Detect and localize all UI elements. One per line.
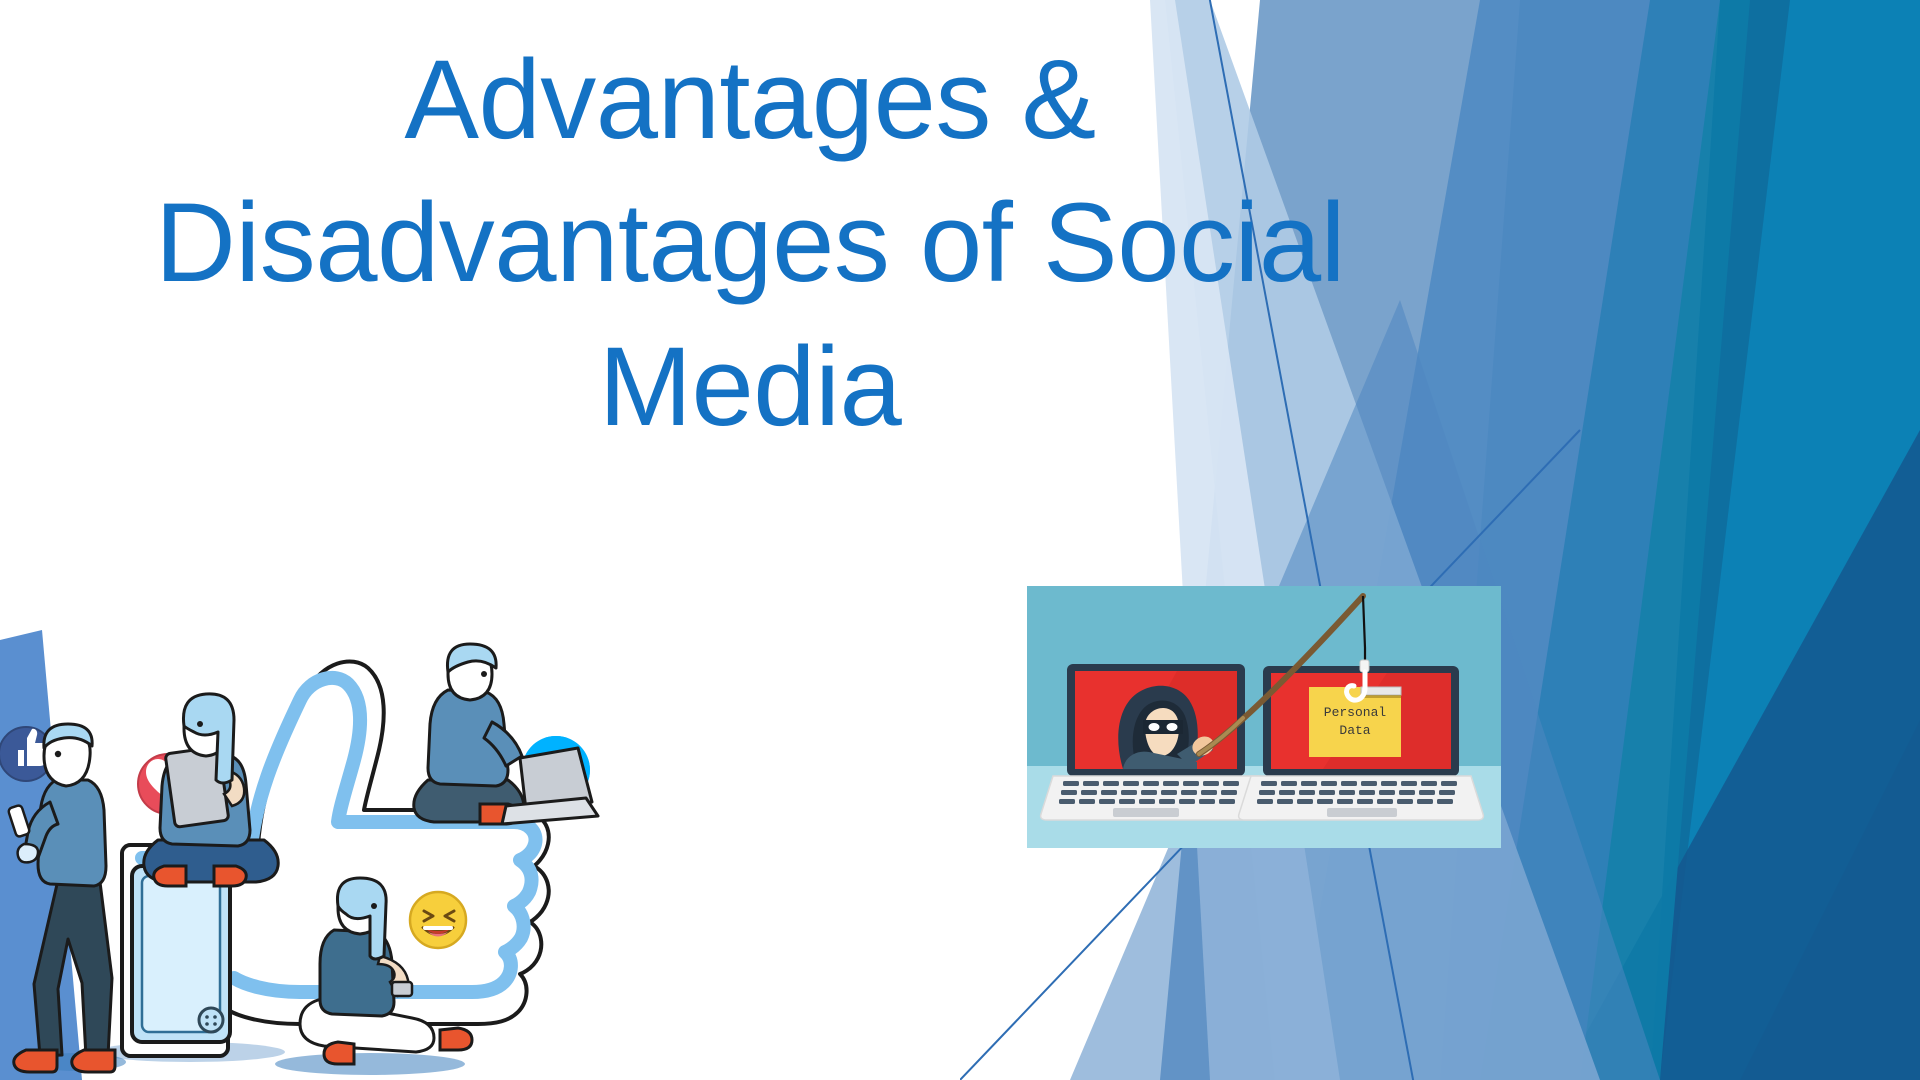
man-standing-shoe-left — [14, 1050, 57, 1072]
seated-woman-shoe-right — [440, 1028, 472, 1050]
woman-tablet-shoe-right — [214, 866, 246, 886]
hacker-eye-right — [1167, 723, 1178, 731]
presentation-slide: Advantages & Disadvantages of Social Med… — [0, 0, 1920, 1080]
victim-laptop-trackpad — [1327, 808, 1397, 817]
deco-shape-bright-cyan — [1660, 0, 1920, 1080]
hacker-laptop-trackpad — [1113, 808, 1179, 817]
man-standing-shoe-right — [72, 1050, 115, 1072]
cuff-button-hole-4 — [213, 1022, 217, 1026]
man-standing-hand — [18, 844, 38, 862]
woman-tablet-shoe-left — [154, 866, 186, 886]
title-line-3: Media — [60, 315, 1440, 458]
deco-shape-navy — [1560, 430, 1920, 1080]
haha-teeth — [423, 926, 453, 930]
seated-woman-phone — [392, 982, 412, 996]
personal-data-note-line-2: Data — [1339, 723, 1370, 738]
laptop-hacker — [1041, 664, 1272, 820]
deco-shape-deep-teal — [1650, 0, 1920, 1080]
woman-tablet-eye — [197, 721, 203, 727]
phishing-svg: Personal Data — [1027, 586, 1501, 848]
note-clip-shadow — [1361, 695, 1401, 698]
phishing-illustration: Personal Data — [1027, 586, 1501, 848]
seated-woman-shoe-left — [324, 1042, 354, 1064]
seated-woman-eye — [371, 903, 377, 909]
haha-badge — [410, 892, 466, 948]
cuff-button-hole-2 — [213, 1015, 217, 1019]
shadow-seated-woman — [275, 1053, 465, 1075]
hacker-eye-left — [1149, 723, 1160, 731]
social-media-illustration — [0, 630, 600, 1080]
social-media-svg — [0, 630, 600, 1080]
personal-data-note-line-1: Personal — [1324, 705, 1387, 720]
title-line-2: Disadvantages of Social — [60, 171, 1440, 314]
slide-title: Advantages & Disadvantages of Social Med… — [60, 28, 1440, 458]
man-standing-eye — [55, 751, 61, 757]
haha-emoji-face — [410, 892, 466, 948]
cuff-button-hole-3 — [205, 1022, 209, 1026]
laptop-man-eye — [481, 671, 487, 677]
title-line-1: Advantages & — [60, 28, 1440, 171]
hacker-keyboard-keys — [1059, 781, 1239, 804]
deco-shape-mid-teal — [1440, 0, 1750, 1080]
thumbs-up-cuff-button — [199, 1008, 223, 1032]
person-man-with-laptop — [414, 644, 598, 824]
cuff-button-hole-1 — [205, 1015, 209, 1019]
